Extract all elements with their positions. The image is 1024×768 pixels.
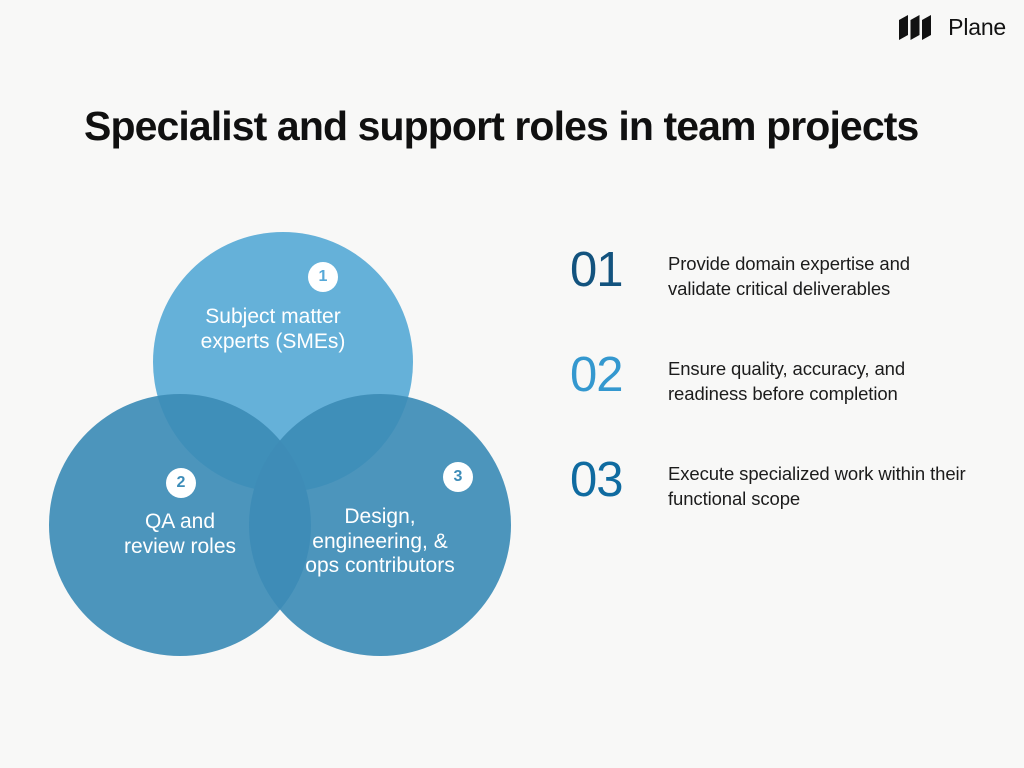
venn-badge-3: 3 [443, 462, 473, 492]
venn-badge-2: 2 [166, 468, 196, 498]
point-text-01: Provide domain expertise and validate cr… [668, 248, 970, 301]
point-number-03: 03 [570, 458, 654, 503]
point-number-02: 02 [570, 353, 654, 398]
brand-logo: Plane [897, 14, 1006, 41]
page-title: Specialist and support roles in team pro… [84, 103, 918, 150]
point-item-03: 03 Execute specialized work within their… [570, 458, 970, 511]
point-item-01: 01 Provide domain expertise and validate… [570, 248, 970, 301]
point-text-03: Execute specialized work within their fu… [668, 458, 970, 511]
venn-circles [40, 220, 530, 670]
venn-badge-1: 1 [308, 262, 338, 292]
point-item-02: 02 Ensure quality, accuracy, and readine… [570, 353, 970, 406]
brand-name: Plane [948, 16, 1006, 39]
venn-circle-3[interactable] [249, 394, 511, 656]
points-list: 01 Provide domain expertise and validate… [570, 248, 970, 564]
venn-diagram: 1 Subject matter experts (SMEs) 2 QA and… [40, 220, 530, 670]
point-text-02: Ensure quality, accuracy, and readiness … [668, 353, 970, 406]
point-number-01: 01 [570, 248, 654, 293]
plane-logo-icon [897, 14, 939, 41]
